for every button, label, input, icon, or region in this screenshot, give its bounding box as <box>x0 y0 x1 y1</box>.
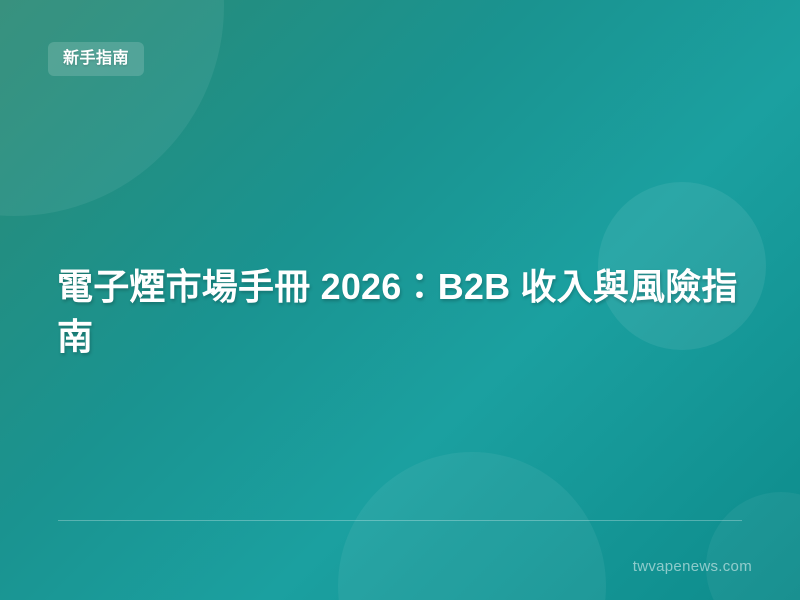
category-badge[interactable]: 新手指南 <box>48 42 144 76</box>
page-title: 電子煙市場手冊 2026：B2B 收入與風險指南 <box>57 262 747 362</box>
site-watermark: twvapenews.com <box>633 557 752 577</box>
cover-card: 新手指南 電子煙市場手冊 2026：B2B 收入與風險指南 twvapenews… <box>0 0 800 600</box>
decorative-circle-top-left <box>0 0 224 216</box>
footer-divider <box>58 520 742 521</box>
decorative-circle-bottom-center <box>338 452 606 600</box>
decorative-circle-bottom-right <box>706 492 800 600</box>
